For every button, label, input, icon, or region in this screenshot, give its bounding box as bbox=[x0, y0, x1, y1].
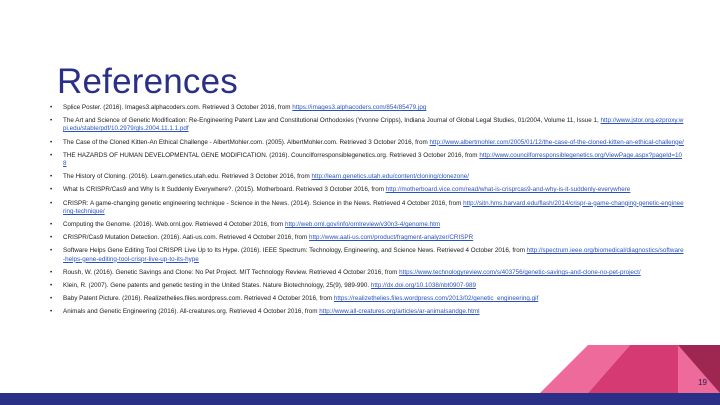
reference-link[interactable]: http://www.albertmohler.com/2005/01/12/t… bbox=[429, 139, 683, 146]
reference-item: •The History of Cloning. (2016). Learn.g… bbox=[46, 173, 684, 181]
reference-link[interactable]: https://images3.alphacoders.com/854/8547… bbox=[292, 104, 426, 111]
reference-item: •CRISPR/Cas9 Mutation Detection. (2016).… bbox=[46, 234, 684, 242]
deco-shape-light-left bbox=[540, 345, 630, 393]
reference-citation-text: What Is CRISPR/Cas9 and Why Is It Sudden… bbox=[63, 186, 386, 193]
reference-item: •The Case of the Cloned Kitten-An Ethica… bbox=[46, 139, 684, 147]
bottom-accent-bar bbox=[0, 393, 720, 405]
reference-item: •The Art and Science of Genetic Modifica… bbox=[46, 117, 684, 133]
bullet-icon: • bbox=[50, 247, 52, 255]
reference-link[interactable]: https://realizethelies.files.wordpress.c… bbox=[334, 295, 538, 302]
decorative-corner-shapes bbox=[540, 345, 720, 393]
references-list: •Splice Poster. (2016). Images3.alphacod… bbox=[46, 104, 684, 322]
reference-citation-text: Splice Poster. (2016). Images3.alphacode… bbox=[63, 104, 292, 111]
reference-item: •Splice Poster. (2016). Images3.alphacod… bbox=[46, 104, 684, 112]
reference-citation-text: Software Helps Gene Editing Tool CRISPR … bbox=[63, 247, 527, 254]
reference-item: •THE HAZARDS OF HUMAN DEVELOPMENTAL GENE… bbox=[46, 152, 684, 168]
slide-canvas: References •Splice Poster. (2016). Image… bbox=[0, 0, 720, 405]
reference-citation-text: Roush, W. (2016). Genetic Savings and Cl… bbox=[63, 269, 399, 276]
bullet-icon: • bbox=[50, 200, 52, 208]
reference-item: •Klein, R. (2007). Gene patents and gene… bbox=[46, 282, 684, 290]
bullet-icon: • bbox=[50, 186, 52, 194]
bullet-icon: • bbox=[50, 234, 52, 242]
reference-citation-text: CRISPR: A game-changing genetic engineer… bbox=[63, 200, 463, 207]
reference-item: •What Is CRISPR/Cas9 and Why Is It Sudde… bbox=[46, 186, 684, 194]
reference-item: •Baby Patent Picture. (2016). Realizethe… bbox=[46, 295, 684, 303]
bullet-icon: • bbox=[50, 269, 52, 277]
reference-citation-text: CRISPR/Cas9 Mutation Detection. (2016). … bbox=[63, 234, 309, 241]
page-number: 19 bbox=[698, 378, 707, 388]
reference-link[interactable]: http://motherboard.vice.com/read/what-is… bbox=[386, 186, 631, 193]
bullet-icon: • bbox=[50, 139, 52, 147]
bullet-icon: • bbox=[50, 308, 52, 316]
page-title: References bbox=[57, 61, 238, 103]
reference-link[interactable]: http://learn.genetics.utah.edu/content/c… bbox=[312, 173, 470, 180]
reference-item: •Animals and Genetic Engineering (2016).… bbox=[46, 308, 684, 316]
reference-citation-text: The History of Cloning. (2016). Learn.ge… bbox=[63, 173, 312, 180]
bullet-icon: • bbox=[50, 104, 52, 112]
reference-link[interactable]: https://www.technologyreview.com/s/40375… bbox=[399, 269, 641, 276]
reference-link[interactable]: http://dx.doi.org/10.1038/nbt0907-989 bbox=[371, 282, 476, 289]
bullet-icon: • bbox=[50, 173, 52, 181]
reference-link[interactable]: http://www.all-creatures.org/articles/ar… bbox=[319, 308, 479, 315]
reference-citation-text: Computing the Genome. (2016). Web.ornl.g… bbox=[63, 221, 285, 228]
reference-link[interactable]: http://web.ornl.gov/info/ornlreview/v30n… bbox=[285, 221, 440, 228]
reference-citation-text: Klein, R. (2007). Gene patents and genet… bbox=[63, 282, 371, 289]
bullet-icon: • bbox=[50, 295, 52, 303]
reference-citation-text: Animals and Genetic Engineering (2016). … bbox=[63, 308, 319, 315]
bullet-icon: • bbox=[50, 152, 52, 160]
reference-citation-text: Baby Patent Picture. (2016). Realizethel… bbox=[63, 295, 334, 302]
reference-link[interactable]: http://www.aati-us.com/product/fragment-… bbox=[309, 234, 473, 241]
bullet-icon: • bbox=[50, 282, 52, 290]
reference-citation-text: THE HAZARDS OF HUMAN DEVELOPMENTAL GENE … bbox=[63, 152, 479, 159]
reference-citation-text: The Case of the Cloned Kitten-An Ethical… bbox=[63, 139, 429, 146]
bullet-icon: • bbox=[50, 221, 52, 229]
reference-item: •Roush, W. (2016). Genetic Savings and C… bbox=[46, 269, 684, 277]
reference-item: •Software Helps Gene Editing Tool CRISPR… bbox=[46, 247, 684, 263]
reference-item: •Computing the Genome. (2016). Web.ornl.… bbox=[46, 221, 684, 229]
bullet-icon: • bbox=[50, 117, 52, 125]
reference-item: •CRISPR: A game-changing genetic enginee… bbox=[46, 200, 684, 216]
deco-shape-mid bbox=[588, 345, 678, 393]
reference-citation-text: The Art and Science of Genetic Modificat… bbox=[63, 117, 601, 124]
